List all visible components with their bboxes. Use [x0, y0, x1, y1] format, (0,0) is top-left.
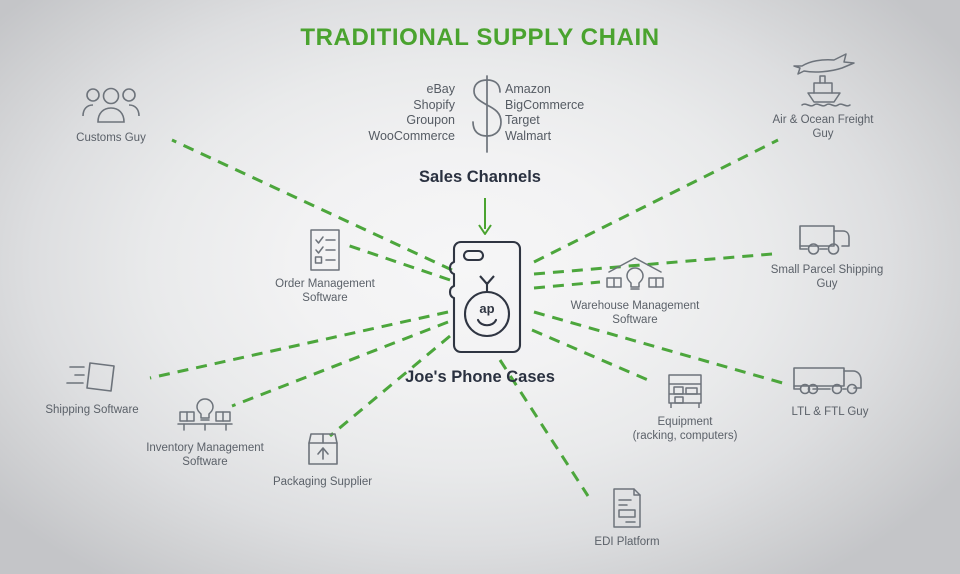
node-ltl-ftl-guy[interactable]: LTL & FTL Guy — [760, 364, 900, 419]
node-label: Customs Guy — [46, 131, 176, 145]
sales-channels-group: eBay Shopify Groupon WooCommerce Amazon … — [355, 74, 615, 154]
delivery-van-icon — [752, 222, 902, 258]
sales-channels-left-list: eBay Shopify Groupon WooCommerce — [355, 82, 455, 144]
plane-ship-icon — [748, 52, 898, 108]
document-icon — [562, 486, 692, 530]
sales-channels-right-list: Amazon BigCommerce Target Walmart — [505, 82, 615, 144]
page-title: TRADITIONAL SUPPLY CHAIN — [0, 24, 960, 52]
node-label: EDI Platform — [562, 535, 692, 549]
sales-channel-item: Walmart — [505, 129, 615, 145]
sales-channel-item: BigCommerce — [505, 98, 615, 114]
line-to-airocean — [534, 140, 778, 262]
sales-channel-item: WooCommerce — [355, 129, 455, 145]
supply-chain-diagram: TRADITIONAL SUPPLY CHAIN eBay Shopify Gr… — [0, 0, 960, 574]
arrow-down-icon — [470, 198, 500, 236]
node-small-parcel-shipping-guy[interactable]: Small Parcel Shipping Guy — [752, 222, 902, 291]
node-label: Warehouse Management Software — [555, 299, 715, 327]
node-order-management-software[interactable]: Order Management Software — [255, 228, 395, 305]
package-motion-icon — [22, 358, 162, 398]
sales-channel-item: Target — [505, 113, 615, 129]
node-label: Order Management Software — [255, 277, 395, 305]
warehouse-bulb-icon — [555, 256, 715, 294]
sales-channel-item: Groupon — [355, 113, 455, 129]
box-arrow-up-icon — [255, 430, 390, 470]
sales-channel-item: Amazon — [505, 82, 615, 98]
node-air-ocean-freight-guy[interactable]: Air & Ocean Freight Guy — [748, 52, 898, 141]
node-label: Air & Ocean Freight Guy — [748, 113, 898, 141]
sales-channel-item: eBay — [355, 82, 455, 98]
sales-channels-heading: Sales Channels — [0, 168, 960, 187]
phone-case-logo-text: ap — [479, 301, 494, 316]
node-label: LTL & FTL Guy — [760, 405, 900, 419]
node-equipment[interactable]: Equipment (racking, computers) — [605, 372, 765, 443]
sales-channel-item: Shopify — [355, 98, 455, 114]
node-warehouse-management-software[interactable]: Warehouse Management Software — [555, 256, 715, 327]
node-edi-platform[interactable]: EDI Platform — [562, 486, 692, 549]
people-group-icon — [46, 86, 176, 126]
node-label: Equipment (racking, computers) — [605, 415, 765, 443]
node-label: Small Parcel Shipping Guy — [752, 263, 902, 291]
node-customs-guy[interactable]: Customs Guy — [46, 86, 176, 145]
dollar-sign-icon — [463, 74, 511, 159]
phone-case-icon: ap — [447, 238, 527, 356]
node-label: Packaging Supplier — [255, 475, 390, 489]
semi-truck-icon — [760, 364, 900, 400]
checklist-icon — [255, 228, 395, 272]
racking-shelf-icon — [605, 372, 765, 410]
node-packaging-supplier[interactable]: Packaging Supplier — [255, 430, 390, 489]
